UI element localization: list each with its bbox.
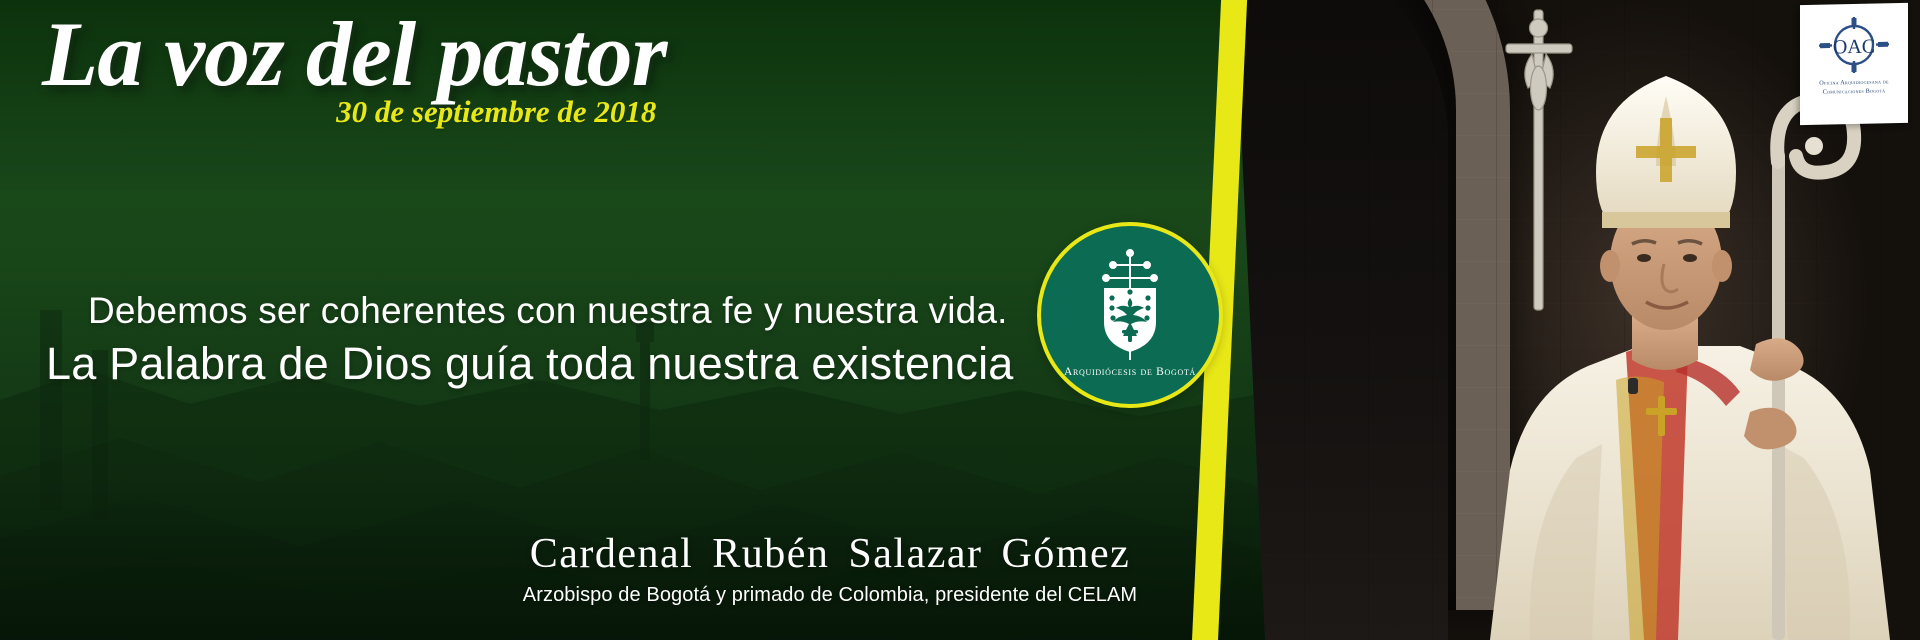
quote-line-2: La Palabra de Dios guía toda nuestra exi… — [46, 338, 1014, 390]
oac-crosshair-icon: OAC — [1816, 15, 1892, 75]
oac-wordmark: OAC — [1833, 36, 1875, 59]
page-title: La voz del pastor — [42, 8, 666, 100]
voz-del-pastor-banner: La voz del pastor 30 de septiembre de 20… — [0, 0, 1920, 640]
quote-block: Debemos ser coherentes con nuestra fe y … — [88, 290, 1014, 390]
archdiocese-coat-of-arms-icon — [1082, 248, 1178, 360]
title-block: La voz del pastor 30 de septiembre de 20… — [42, 8, 666, 130]
speaker-role: Arzobispo de Bogotá y primado de Colombi… — [480, 584, 1180, 607]
crest-label: Arquidiócesis de Bogotá — [1064, 366, 1196, 378]
attribution-block: Cardenal Rubén Salazar Gómez Arzobispo d… — [480, 530, 1180, 607]
archdiocese-crest-badge: Arquidiócesis de Bogotá — [1037, 222, 1223, 408]
oac-caption: Oficina Arquidiocesana de Comunicaciones… — [1800, 78, 1908, 98]
quote-line-1: Debemos ser coherentes con nuestra fe y … — [88, 290, 1014, 332]
speaker-name: Cardenal Rubén Salazar Gómez — [480, 530, 1180, 578]
oac-logo: OAC Oficina Arquidiocesana de Comunicaci… — [1800, 3, 1908, 125]
